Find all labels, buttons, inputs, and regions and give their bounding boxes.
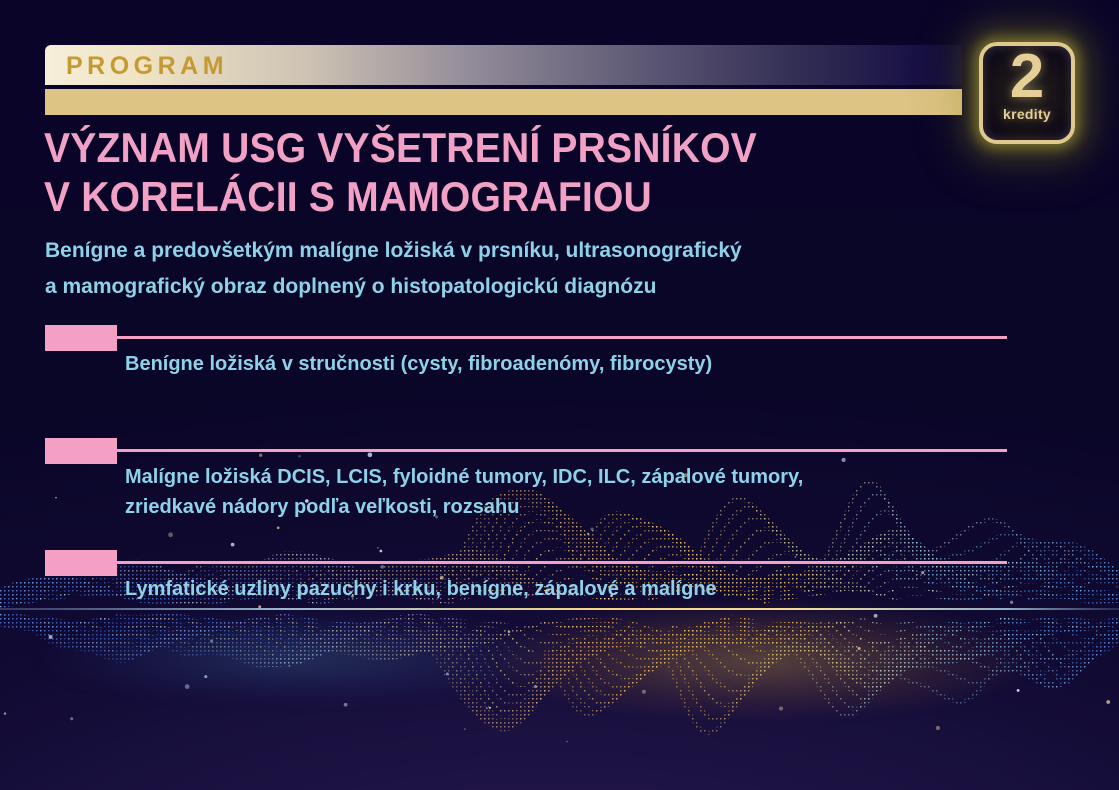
page-subtitle-line-1: Benígne a predovšetkým malígne ložiská v… — [45, 233, 995, 269]
page-title-line-1: VÝZNAM USG VYŠETRENÍ PRSNÍKOV — [44, 123, 937, 172]
page-subtitle-line-2: a mamografický obraz doplnený o histopat… — [45, 269, 995, 305]
program-banner-gold-bar — [45, 89, 962, 115]
program-item-marker — [45, 438, 117, 464]
program-item-rule — [117, 561, 1007, 564]
program-item-text: Malígne ložiská DCIS, LCIS, fyloidné tum… — [125, 462, 1075, 522]
program-item-line-1: Malígne ložiská DCIS, LCIS, fyloidné tum… — [125, 462, 1075, 492]
poster-canvas: PROGRAM 2 kredity VÝZNAM USG VYŠETRENÍ P… — [0, 0, 1119, 790]
program-item-rule — [117, 449, 1007, 452]
program-banner-label: PROGRAM — [66, 52, 228, 81]
page-title: VÝZNAM USG VYŠETRENÍ PRSNÍKOV V KORELÁCI… — [44, 123, 937, 221]
program-item-text: Benígne ložiská v stručnosti (cysty, fib… — [125, 349, 1075, 379]
program-item-line-1: Lymfatické uzliny pazuchy i krku, benígn… — [125, 574, 1075, 604]
page-subtitle: Benígne a predovšetkým malígne ložiská v… — [45, 233, 995, 305]
program-item-line-2: zriedkavé nádory podľa veľkosti, rozsahu — [125, 492, 1075, 522]
credits-badge: 2 kredity — [979, 42, 1075, 144]
program-item-text: Lymfatické uzliny pazuchy i krku, benígn… — [125, 574, 1075, 604]
program-item-rule — [117, 336, 1007, 339]
credits-badge-unit: kredity — [983, 106, 1071, 122]
credits-badge-number: 2 — [983, 44, 1071, 110]
program-item-line-1: Benígne ložiská v stručnosti (cysty, fib… — [125, 349, 1075, 379]
program-item-marker — [45, 325, 117, 351]
page-title-line-2: V KORELÁCII S MAMOGRAFIOU — [44, 172, 937, 221]
program-item-marker — [45, 550, 117, 576]
